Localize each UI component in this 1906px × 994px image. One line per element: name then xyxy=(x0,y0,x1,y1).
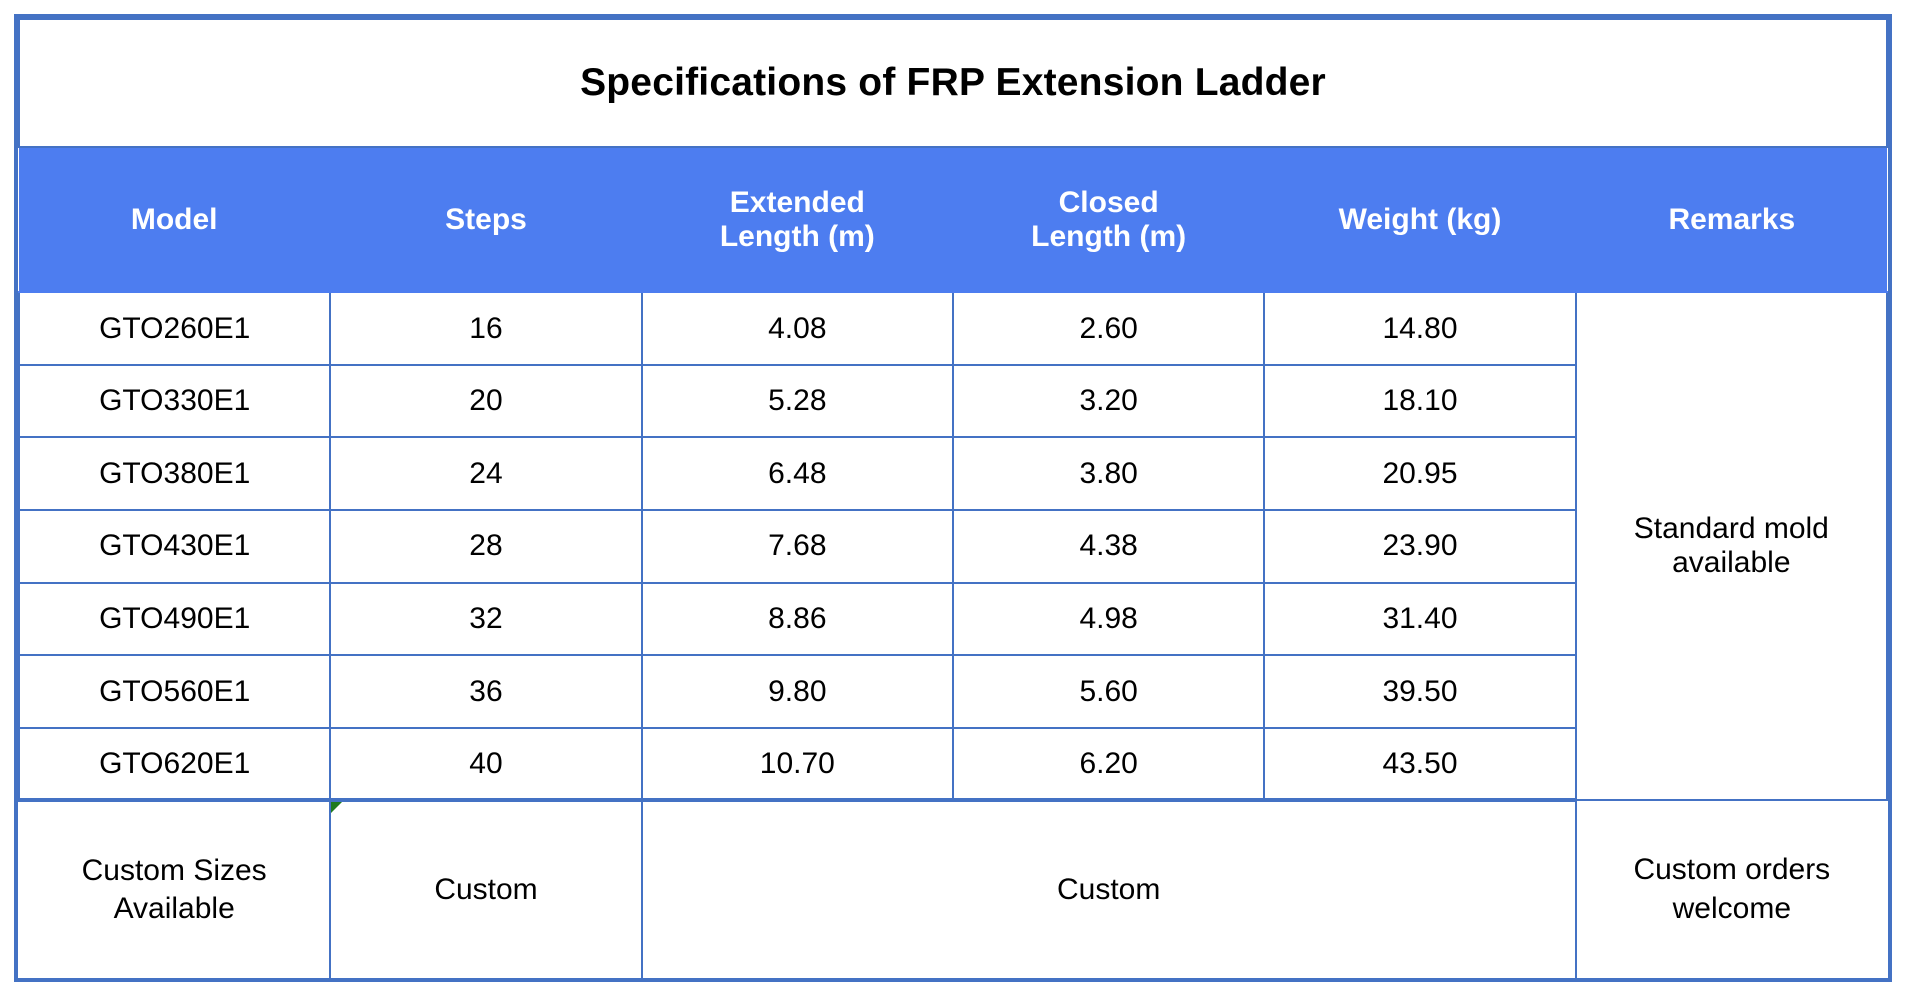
specifications-table: Specifications of FRP Extension Ladder M… xyxy=(18,18,1888,978)
cell-custom-model-line1: Custom Sizes xyxy=(25,852,323,890)
column-header-closed-length: Closed Length (m) xyxy=(953,147,1264,292)
cell-closed-length: 6.20 xyxy=(953,728,1264,801)
cell-custom-steps: Custom xyxy=(330,800,641,978)
cell-model: GTO330E1 xyxy=(19,365,330,438)
column-header-model: Model xyxy=(19,147,330,292)
cell-model: GTO490E1 xyxy=(19,583,330,656)
cell-steps: 20 xyxy=(330,365,641,438)
column-header-extended-length: Extended Length (m) xyxy=(642,147,953,292)
cell-model: GTO430E1 xyxy=(19,510,330,583)
cell-custom-remarks: Custom orders welcome xyxy=(1576,800,1887,978)
header-row: Model Steps Extended Length (m) Closed L… xyxy=(19,147,1887,292)
cell-model: GTO560E1 xyxy=(19,655,330,728)
column-header-weight: Weight (kg) xyxy=(1264,147,1575,292)
cell-closed-length: 4.98 xyxy=(953,583,1264,656)
cell-custom-model: Custom Sizes Available xyxy=(19,800,330,978)
cell-closed-length: 5.60 xyxy=(953,655,1264,728)
cell-extended-length: 4.08 xyxy=(642,292,953,365)
cell-weight: 31.40 xyxy=(1264,583,1575,656)
cell-custom-lengths-merged: Custom xyxy=(642,800,1576,978)
cell-extended-length: 7.68 xyxy=(642,510,953,583)
cell-weight: 20.95 xyxy=(1264,437,1575,510)
cell-weight: 23.90 xyxy=(1264,510,1575,583)
column-header-remarks: Remarks xyxy=(1576,147,1887,292)
cell-extended-length: 8.86 xyxy=(642,583,953,656)
column-header-extended-length-line2: Length (m) xyxy=(649,220,946,254)
cell-extended-length: 6.48 xyxy=(642,437,953,510)
cell-closed-length: 2.60 xyxy=(953,292,1264,365)
cell-custom-steps-value: Custom xyxy=(337,871,634,909)
table-title: Specifications of FRP Extension Ladder xyxy=(19,19,1887,147)
cell-steps: 36 xyxy=(330,655,641,728)
cell-steps: 16 xyxy=(330,292,641,365)
cell-model: GTO380E1 xyxy=(19,437,330,510)
error-triangle-icon xyxy=(331,802,342,813)
specifications-table-frame: Specifications of FRP Extension Ladder M… xyxy=(14,14,1892,982)
cell-closed-length: 4.38 xyxy=(953,510,1264,583)
cell-steps: 28 xyxy=(330,510,641,583)
table-row: GTO260E1 16 4.08 2.60 14.80 Standard mol… xyxy=(19,292,1887,365)
cell-weight: 43.50 xyxy=(1264,728,1575,801)
column-header-extended-length-line1: Extended xyxy=(649,186,946,220)
cell-closed-length: 3.80 xyxy=(953,437,1264,510)
column-header-closed-length-line2: Length (m) xyxy=(960,220,1257,254)
cell-weight: 18.10 xyxy=(1264,365,1575,438)
cell-extended-length: 10.70 xyxy=(642,728,953,801)
cell-model: GTO260E1 xyxy=(19,292,330,365)
cell-model: GTO620E1 xyxy=(19,728,330,801)
title-row: Specifications of FRP Extension Ladder xyxy=(19,19,1887,147)
column-header-steps: Steps xyxy=(330,147,641,292)
column-header-closed-length-line1: Closed xyxy=(960,186,1257,220)
cell-weight: 14.80 xyxy=(1264,292,1575,365)
cell-steps: 32 xyxy=(330,583,641,656)
cell-weight: 39.50 xyxy=(1264,655,1575,728)
cell-steps: 24 xyxy=(330,437,641,510)
cell-steps: 40 xyxy=(330,728,641,801)
cell-closed-length: 3.20 xyxy=(953,365,1264,438)
cell-custom-model-line2: Available xyxy=(25,890,323,928)
cell-extended-length: 9.80 xyxy=(642,655,953,728)
custom-sizes-row: Custom Sizes Available Custom Custom Cus… xyxy=(19,800,1887,978)
cell-remarks-merged: Standard mold available xyxy=(1576,292,1887,800)
cell-extended-length: 5.28 xyxy=(642,365,953,438)
